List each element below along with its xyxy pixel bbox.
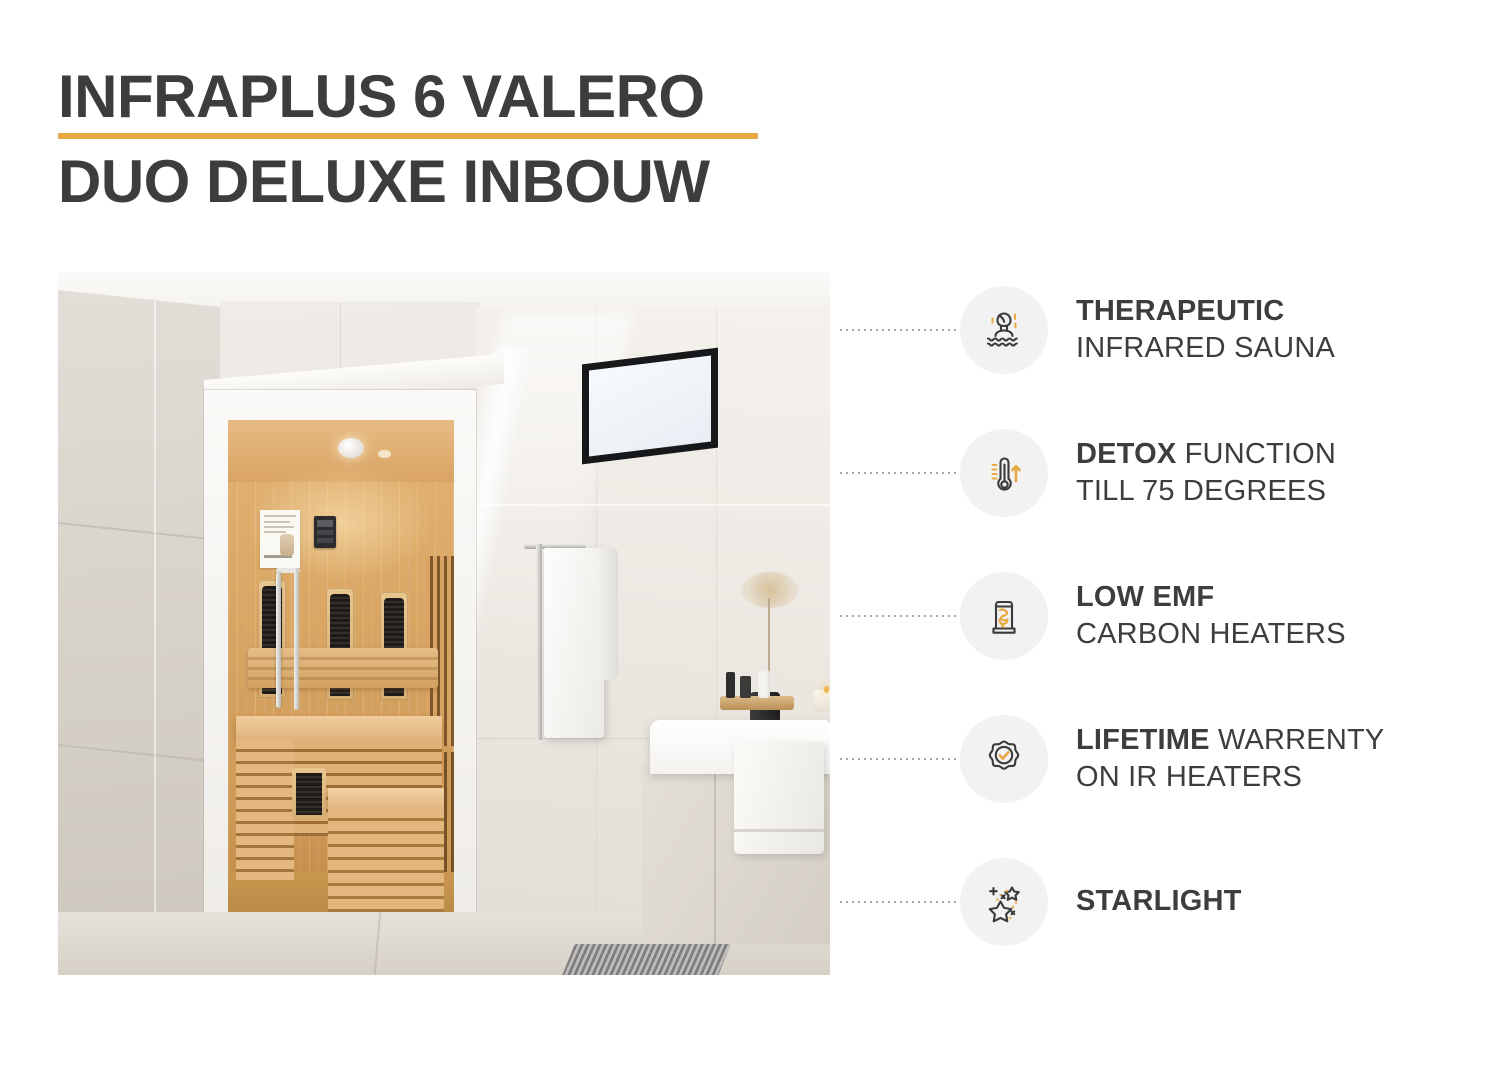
title-line-2: DUO DELUXE INBOUW (58, 151, 818, 212)
feature-item-detox: DETOX FUNCTION TILL 75 DEGREES (838, 401, 1478, 544)
feature-item-lifetime-warranty: LIFETIME WARRENTY ON IR HEATERS (838, 687, 1478, 830)
feature-title: LOW EMF (1076, 581, 1214, 613)
toiletry-bottle (726, 672, 735, 698)
product-infographic: INFRAPLUS 6 VALERO DUO DELUXE INBOUW (0, 0, 1500, 1080)
feature-text: LIFETIME WARRENTY ON IR HEATERS (1076, 722, 1384, 795)
sauna-bench-top (236, 716, 442, 742)
heater-coil-icon (960, 572, 1048, 660)
title-accent-rule (58, 133, 758, 139)
connector-dotted-line (838, 758, 956, 760)
bath-mat (561, 944, 731, 975)
instruction-poster (260, 510, 300, 568)
wall-left-grout (58, 290, 226, 948)
ceiling-light (338, 438, 364, 458)
draped-towel (734, 742, 824, 854)
feature-item-starlight: STARLIGHT (838, 830, 1478, 973)
product-photo (58, 272, 830, 975)
feature-subtitle: TILL 75 DEGREES (1076, 473, 1336, 510)
feature-subtitle: CARBON HEATERS (1076, 616, 1346, 653)
ceiling-light-small (378, 450, 391, 458)
feature-text: STARLIGHT (1076, 883, 1242, 920)
sauna-control-panel (314, 516, 336, 548)
feature-text: THERAPEUTIC INFRARED SAUNA (1076, 293, 1335, 366)
toiletry-bottle (740, 676, 751, 698)
connector-dotted-line (838, 615, 956, 617)
thermometer-icon (960, 429, 1048, 517)
hanging-towel (544, 548, 604, 738)
towel-rail-vertical (536, 544, 542, 740)
feature-title: STARLIGHT (1076, 885, 1242, 917)
hanging-towel-fold (598, 548, 618, 680)
handrail (276, 572, 281, 708)
candle (814, 690, 830, 712)
feature-title-rest: FUNCTION (1176, 438, 1336, 470)
badge-check-icon (960, 715, 1048, 803)
connector-dotted-line (838, 329, 956, 331)
person-in-water-icon (960, 286, 1048, 374)
feature-text: LOW EMF CARBON HEATERS (1076, 579, 1346, 652)
feature-item-low-emf: LOW EMF CARBON HEATERS (838, 544, 1478, 687)
sauna-bench-side (236, 740, 294, 880)
feature-title: DETOX (1076, 438, 1176, 470)
bathroom-window (582, 348, 718, 465)
feature-list: THERAPEUTIC INFRARED SAUNA (838, 258, 1478, 973)
poster-figure (280, 534, 294, 556)
sauna-step-front (328, 808, 444, 914)
candle-flame (824, 686, 829, 693)
page-title: INFRAPLUS 6 VALERO DUO DELUXE INBOUW (58, 66, 818, 212)
feature-title-rest: WARRENTY (1210, 724, 1385, 756)
sauna-interior (228, 420, 454, 968)
stars-sparkle-icon (960, 858, 1048, 946)
feature-title: THERAPEUTIC (1076, 295, 1284, 327)
connector-dotted-line (838, 901, 956, 903)
wooden-tray (720, 696, 794, 710)
floor-heater-panel (292, 768, 326, 820)
feature-subtitle: INFRARED SAUNA (1076, 330, 1335, 367)
sauna-step-top (328, 788, 444, 810)
title-line-1: INFRAPLUS 6 VALERO (58, 66, 818, 127)
toiletry-bottle (758, 670, 770, 698)
feature-item-therapeutic: THERAPEUTIC INFRARED SAUNA (838, 258, 1478, 401)
feature-title: LIFETIME (1076, 724, 1210, 756)
feature-text: DETOX FUNCTION TILL 75 DEGREES (1076, 436, 1336, 509)
dried-flower-bloom (742, 572, 798, 608)
handrail (294, 568, 299, 710)
connector-dotted-line (838, 472, 956, 474)
feature-subtitle: ON IR HEATERS (1076, 759, 1384, 796)
